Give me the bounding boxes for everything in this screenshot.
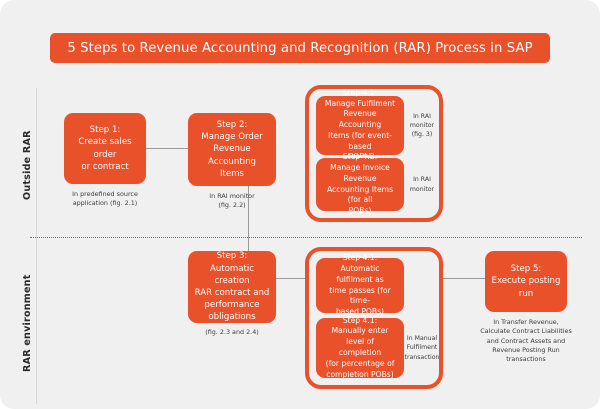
step-5-caption: In Transfer Revenue, Calculate Contract … [472,318,580,364]
step-4-1-manual-completion-label: Step 4.1: Manually enter level of comple… [322,316,398,381]
step-4-2-manage-invoice-caption: In RAI monitor [404,158,440,211]
step-1-label: Step 1: Create sales order or contract [70,124,140,173]
swimlane-axis [36,88,37,404]
diagram-title-bar: 5 Steps to Revenue Accounting and Recogn… [50,33,550,63]
swimlane-label-outside-rar: Outside RAR [22,110,33,220]
step-2-box[interactable]: Step 2: Manage Order Revenue Accounting … [188,113,276,186]
step-4-1-automatic-fulfilment-label: Step 4.1: Automatic fulfilment as time p… [322,253,398,318]
step-4-1-manual-completion-caption: In Manual Fulfilment transaction [404,318,440,378]
step-3-label: Step 3: Automatic creation RAR contract … [194,250,270,323]
diagram-canvas: 5 Steps to Revenue Accounting and Recogn… [0,0,600,409]
step-3-caption: (fig. 2.3 and 2.4) [182,328,282,337]
step-4-1-automatic-fulfilment-box[interactable]: Step 4.1: Automatic fulfilment as time p… [316,258,404,313]
swimlane-divider [30,237,582,238]
connector-step1-step2 [145,148,189,149]
step-1-caption: In predefined source application (fig. 2… [55,190,155,209]
page-title: 5 Steps to Revenue Accounting and Recogn… [67,41,532,56]
step-4-1-manage-fulfilment-box[interactable]: Step 4.1: Manage Fulfilment Revenue Acco… [316,96,404,155]
step-2-caption: In RAI monitor (fig. 2.2) [182,192,282,211]
step-2-label: Step 2: Manage Order Revenue Accounting … [194,119,270,180]
step-4-2-manage-invoice-label: Step 4.2: Manage Invoice Revenue Account… [322,152,398,217]
step-4-2-manage-invoice-box[interactable]: Step 4.2: Manage Invoice Revenue Account… [316,158,404,211]
swimlane-label-rar-environment: RAR environment [22,258,33,388]
connector-group-bottom-step5 [441,278,485,279]
step-5-label: Step 5: Execute posting run [491,263,561,300]
step-4-1-manage-fulfilment-caption: In RAI monitor (fig. 3) [404,96,440,155]
step-1-box[interactable]: Step 1: Create sales order or contract [64,113,146,184]
step-3-box[interactable]: Step 3: Automatic creation RAR contract … [188,251,276,323]
step-4-1-manual-completion-box[interactable]: Step 4.1: Manually enter level of comple… [316,318,404,378]
step-5-box[interactable]: Step 5: Execute posting run [485,251,567,312]
